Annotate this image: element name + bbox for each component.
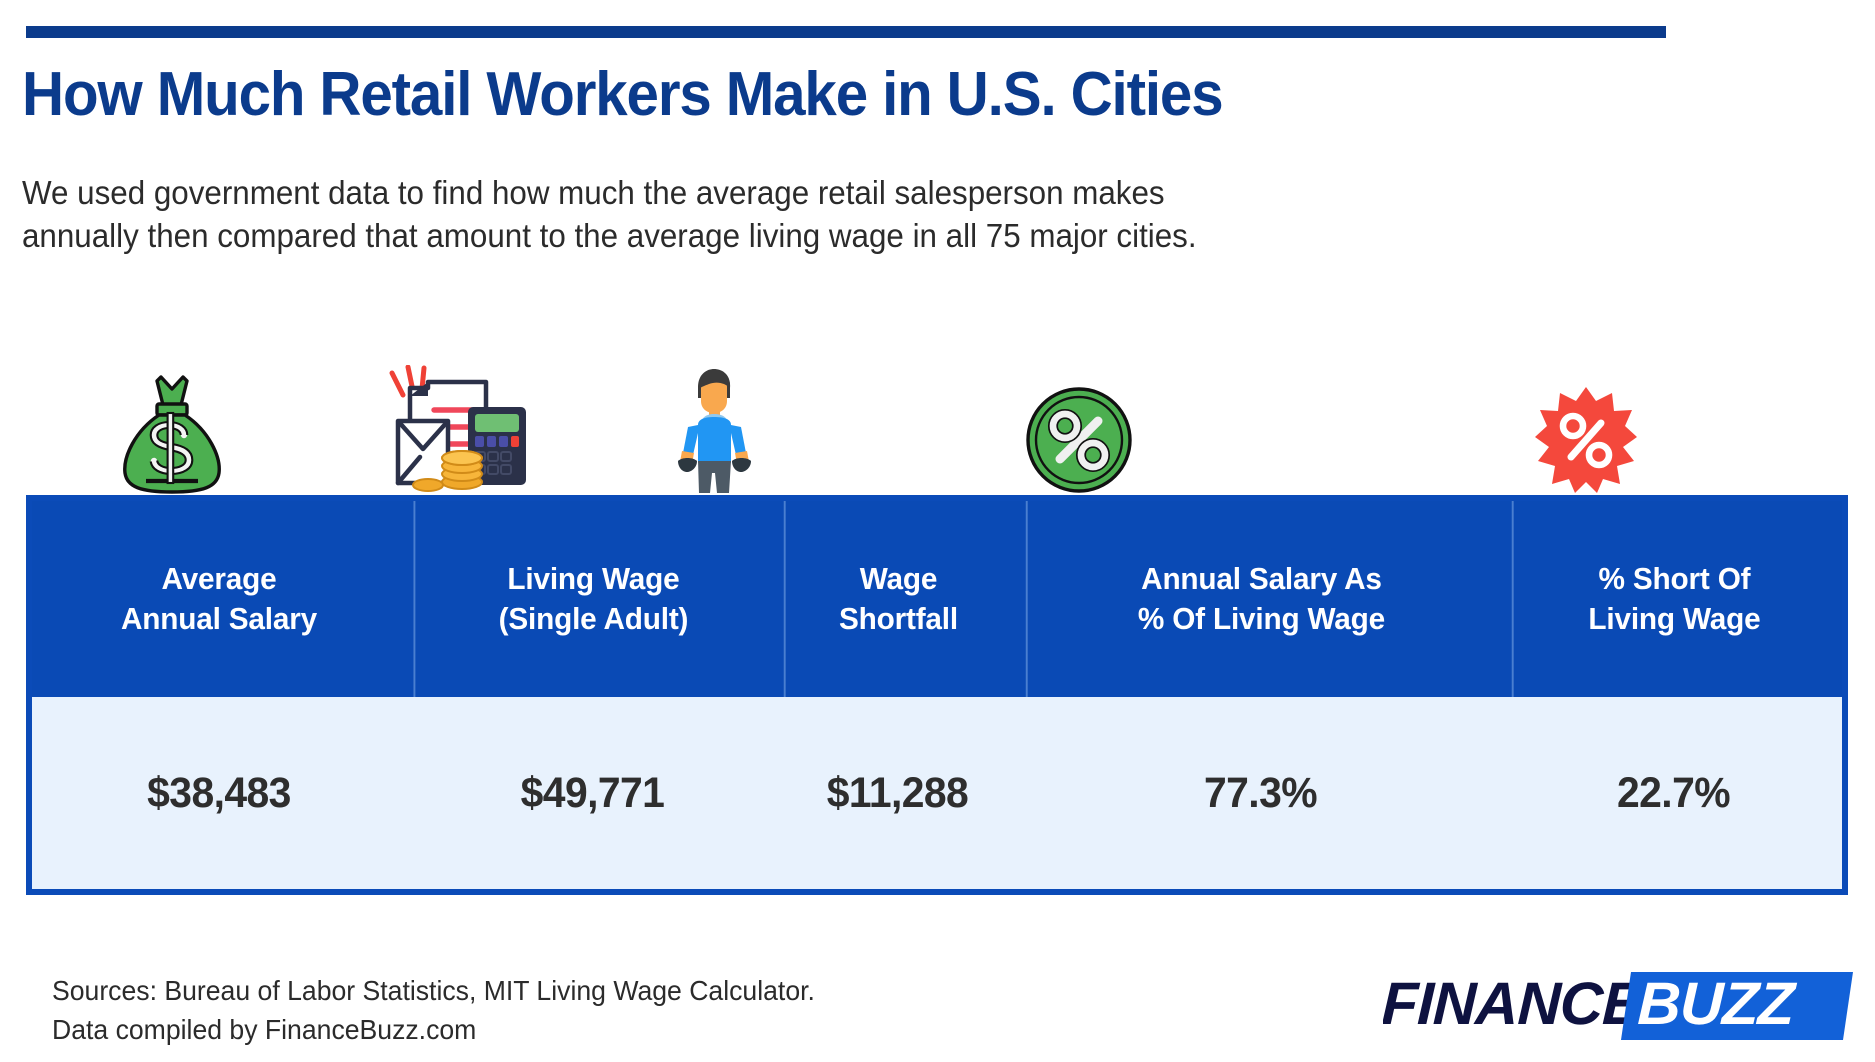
sources-line-1: Sources: Bureau of Labor Statistics, MIT… <box>52 972 815 1011</box>
column-header-average-annual-salary: Average Annual Salary <box>39 501 398 697</box>
subtitle-line-1: We used government data to find how much… <box>22 172 1723 215</box>
header-line-2: Annual Salary <box>121 599 317 639</box>
empty-pockets-person-icon <box>675 365 753 495</box>
header-line-2: Living Wage <box>1588 599 1760 639</box>
top-accent-bar <box>26 26 1666 38</box>
cell-pct-short-of-living-wage: 22.7% <box>1513 697 1833 889</box>
header-line-2: (Single Adult) <box>499 599 689 639</box>
percent-burst-icon <box>1533 385 1639 495</box>
data-table: Average Annual Salary Living Wage (Singl… <box>26 495 1848 895</box>
header-line-1: Wage <box>839 559 958 599</box>
percent-coin-icon <box>1024 385 1134 495</box>
icon-cell-living-wage <box>317 330 594 495</box>
icon-strip <box>26 330 1848 495</box>
icon-cell-pct-short <box>1323 330 1848 495</box>
sources-note: Sources: Bureau of Labor Statistics, MIT… <box>52 972 815 1049</box>
money-bag-icon <box>119 369 225 495</box>
subtitle-line-2: annually then compared that amount to th… <box>22 215 1723 258</box>
table-data-row: $38,483 $49,771 $11,288 77.3% 22.7% <box>32 697 1842 889</box>
icon-cell-salary <box>26 330 317 495</box>
sources-line-2: Data compiled by FinanceBuzz.com <box>52 1011 815 1050</box>
header-line-1: Annual Salary As <box>1138 559 1385 599</box>
page-title: How Much Retail Workers Make in U.S. Cit… <box>22 62 1676 128</box>
column-header-salary-pct-of-living-wage: Annual Salary As % Of Living Wage <box>1026 501 1495 697</box>
financebuzz-logo-svg: FINANCE BUZZ <box>1383 968 1853 1046</box>
table-header-row: Average Annual Salary Living Wage (Singl… <box>32 501 1842 697</box>
cell-salary-pct-of-living-wage: 77.3% <box>1028 697 1493 889</box>
icon-cell-shortfall <box>594 330 834 495</box>
icon-cell-salary-pct <box>834 330 1323 495</box>
column-header-living-wage: Living Wage (Single Adult) <box>413 501 771 697</box>
logo-finance-text: FINANCE <box>1383 970 1645 1037</box>
page-subtitle: We used government data to find how much… <box>22 172 1723 258</box>
cell-wage-shortfall: $11,288 <box>785 697 1010 889</box>
bill-calculator-icon <box>380 365 532 495</box>
financebuzz-logo: FINANCE BUZZ <box>1383 968 1853 1046</box>
header-line-1: % Short Of <box>1588 559 1760 599</box>
header-line-2: % Of Living Wage <box>1138 599 1385 639</box>
column-header-wage-shortfall: Wage Shortfall <box>784 501 1012 697</box>
header-line-1: Living Wage <box>499 559 689 599</box>
header-line-2: Shortfall <box>839 599 958 639</box>
column-header-pct-short-of-living-wage: % Short Of Living Wage <box>1512 501 1836 697</box>
header-line-1: Average <box>121 559 317 599</box>
cell-living-wage: $49,771 <box>415 697 769 889</box>
cell-average-annual-salary: $38,483 <box>41 697 396 889</box>
infographic-page: How Much Retail Workers Make in U.S. Cit… <box>0 0 1875 1062</box>
logo-buzz-text: BUZZ <box>1637 970 1799 1037</box>
